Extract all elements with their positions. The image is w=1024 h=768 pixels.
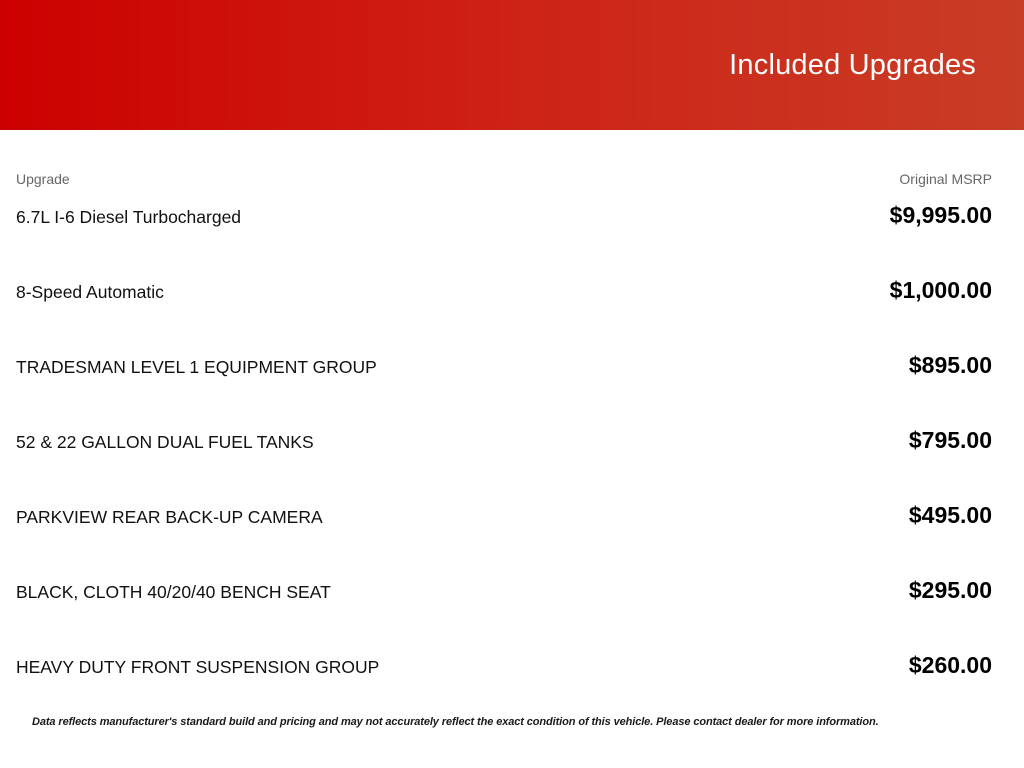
table-row: 52 & 22 GALLON DUAL FUEL TANKS $795.00 (16, 411, 992, 486)
upgrade-name: 6.7L I-6 Diesel Turbocharged (16, 191, 241, 227)
upgrade-price: $295.00 (909, 561, 992, 602)
upgrade-price: $495.00 (909, 486, 992, 527)
table-row: BLACK, CLOTH 40/20/40 BENCH SEAT $295.00 (16, 561, 992, 636)
upgrade-name: TRADESMAN LEVEL 1 EQUIPMENT GROUP (16, 341, 377, 377)
table-column-headers: Upgrade Original MSRP (16, 130, 992, 186)
disclaimer-text: Data reflects manufacturer's standard bu… (16, 711, 992, 729)
upgrade-name: HEAVY DUTY FRONT SUSPENSION GROUP (16, 641, 379, 677)
table-row: 6.7L I-6 Diesel Turbocharged $9,995.00 (16, 186, 992, 261)
upgrade-price: $9,995.00 (890, 186, 992, 227)
column-header-original-msrp: Original MSRP (899, 172, 992, 186)
page-title: Included Upgrades (729, 51, 976, 80)
upgrade-price: $895.00 (909, 336, 992, 377)
table-row: HEAVY DUTY FRONT SUSPENSION GROUP $260.0… (16, 636, 992, 711)
table-row: TRADESMAN LEVEL 1 EQUIPMENT GROUP $895.0… (16, 336, 992, 411)
upgrade-price: $795.00 (909, 411, 992, 452)
included-upgrades-page: Included Upgrades Upgrade Original MSRP … (0, 0, 1024, 768)
table-row: PARKVIEW REAR BACK-UP CAMERA $495.00 (16, 486, 992, 561)
upgrade-name: BLACK, CLOTH 40/20/40 BENCH SEAT (16, 566, 331, 602)
upgrade-name: PARKVIEW REAR BACK-UP CAMERA (16, 491, 323, 527)
page-banner: Included Upgrades (0, 0, 1024, 130)
upgrades-list: 6.7L I-6 Diesel Turbocharged $9,995.00 8… (16, 186, 992, 711)
upgrade-name: 52 & 22 GALLON DUAL FUEL TANKS (16, 416, 314, 452)
bottom-spacer (16, 729, 992, 768)
table-row: 8-Speed Automatic $1,000.00 (16, 261, 992, 336)
upgrades-content: Upgrade Original MSRP 6.7L I-6 Diesel Tu… (0, 130, 1024, 768)
column-header-upgrade: Upgrade (16, 172, 70, 186)
upgrade-price: $1,000.00 (890, 261, 992, 302)
upgrade-name: 8-Speed Automatic (16, 266, 164, 302)
upgrade-price: $260.00 (909, 636, 992, 677)
